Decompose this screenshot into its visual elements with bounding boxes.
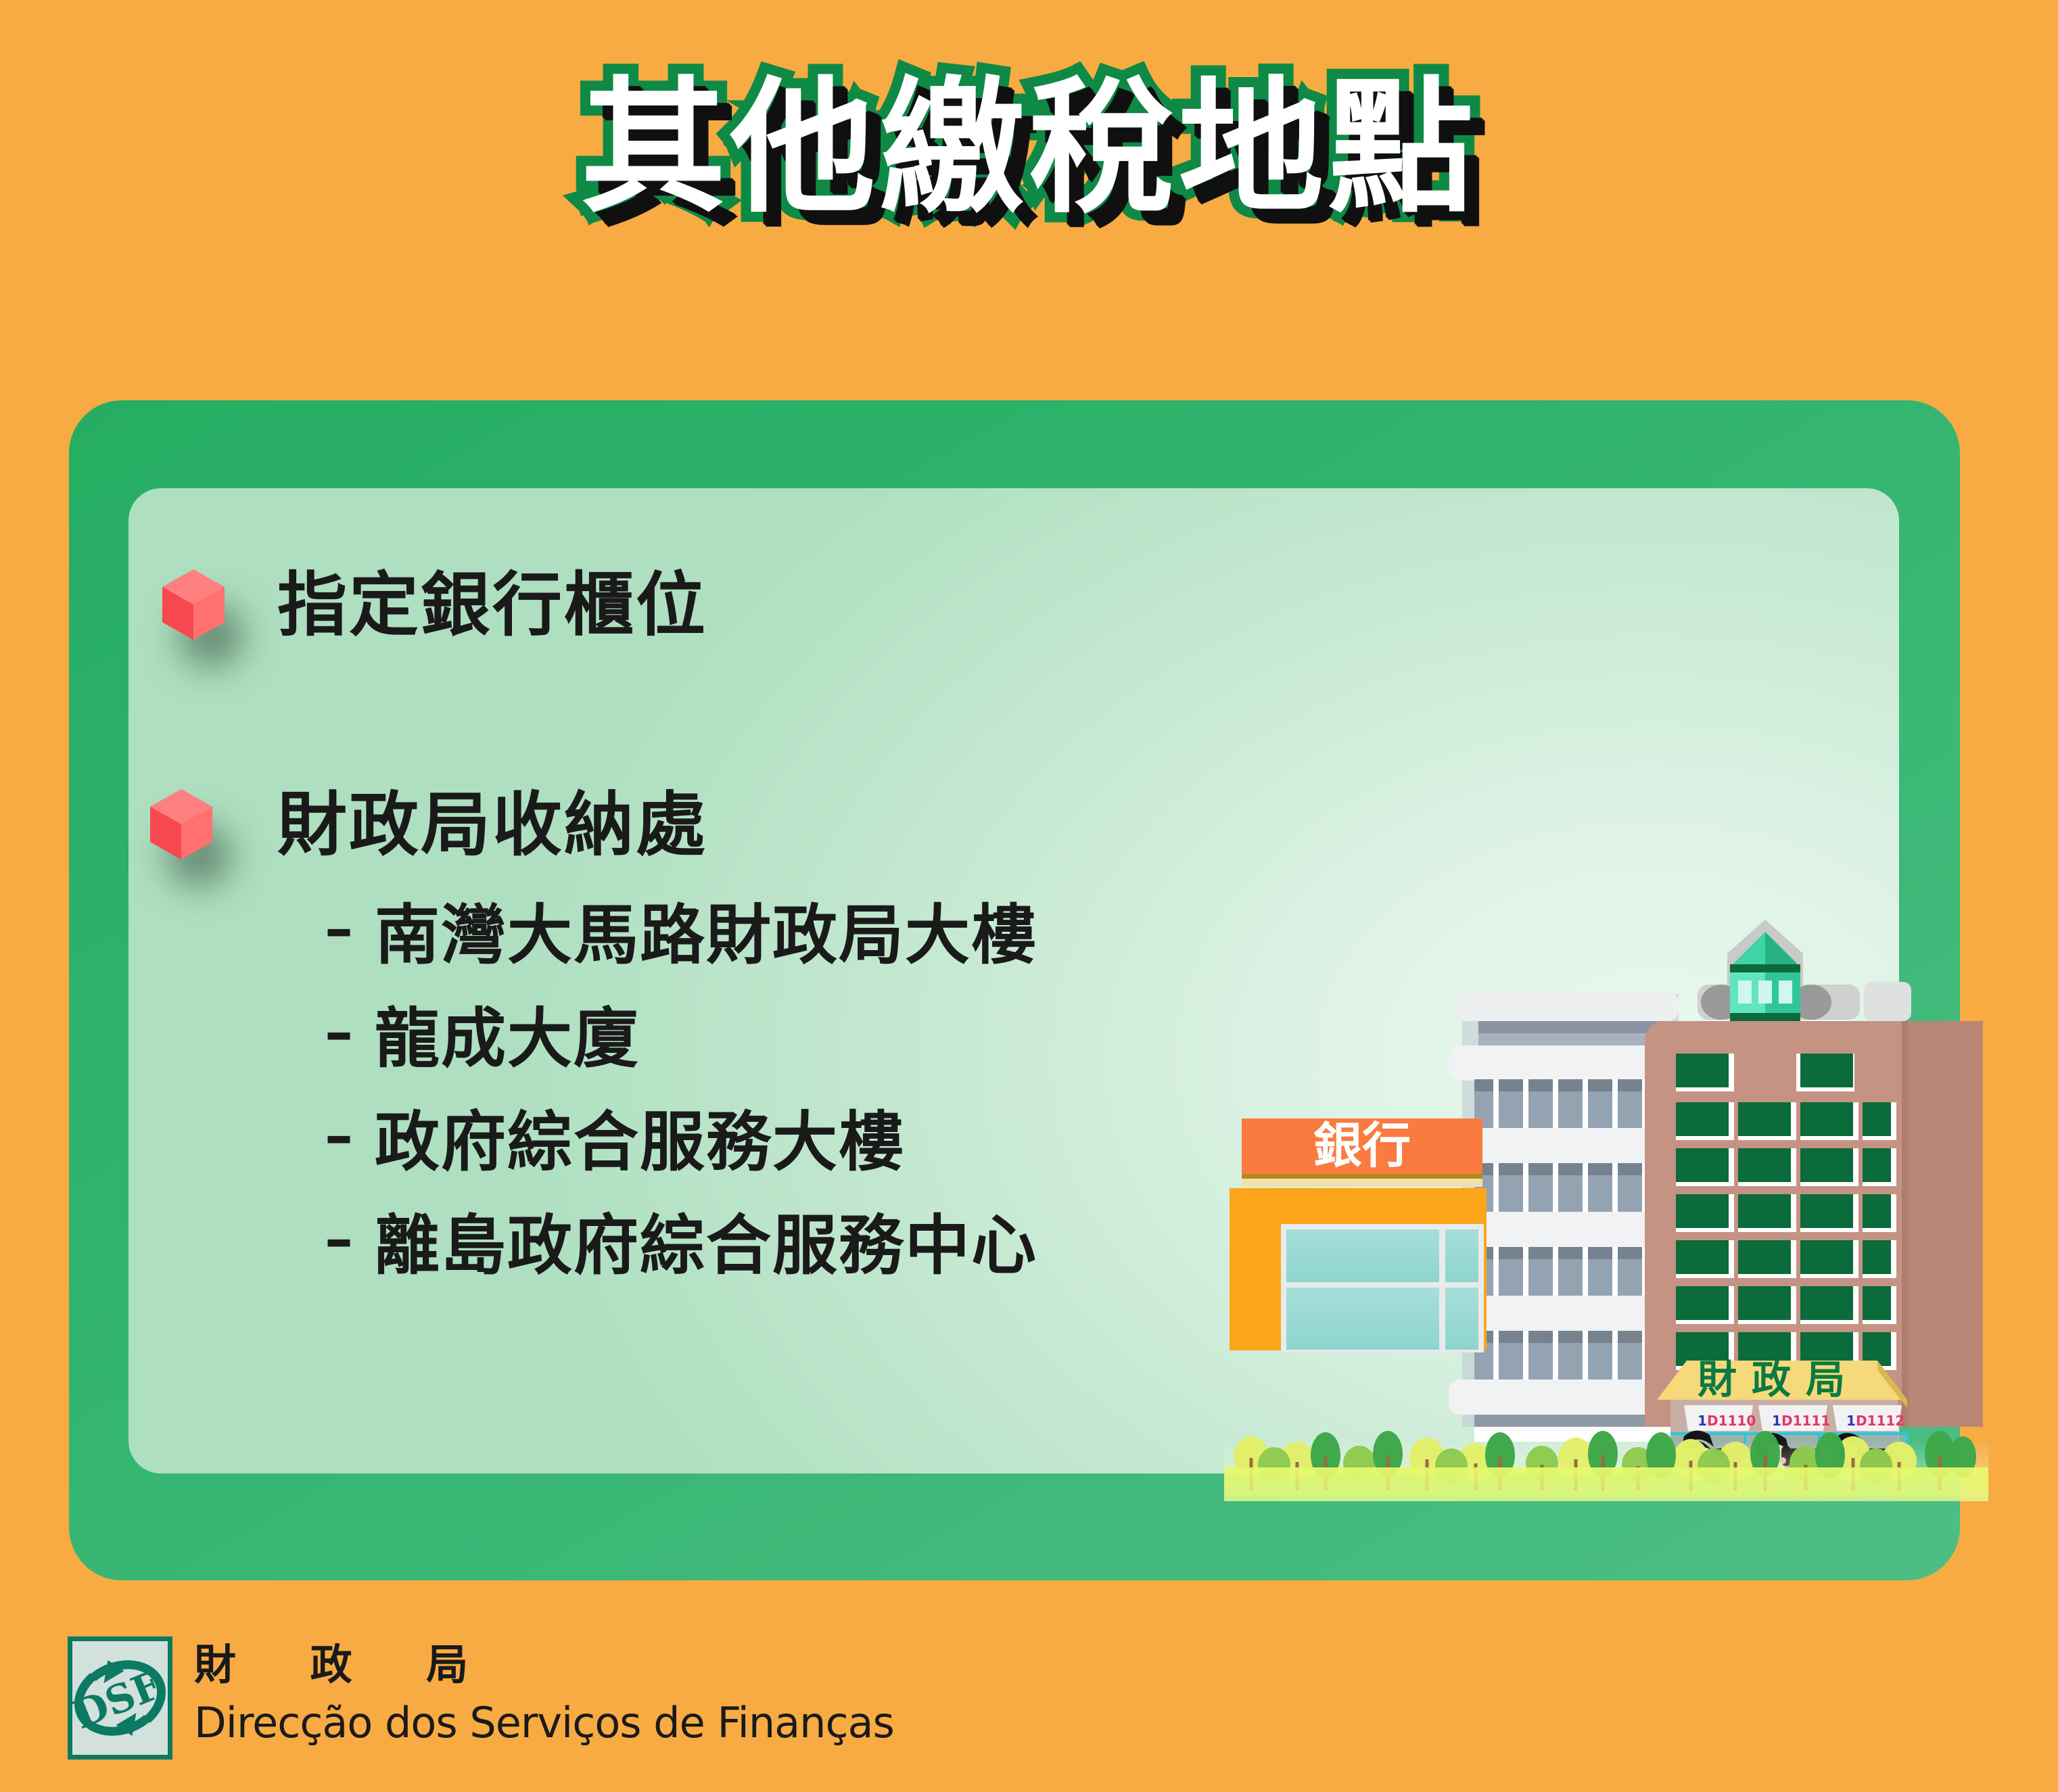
sub-location-list: – 南灣大馬路財政局大樓 – 龍成大廈 – 政府綜合服務大樓 – 離島政府綜合服…: [325, 903, 1339, 1317]
list-item: – 政府綜合服務大樓: [325, 1110, 1339, 1213]
svg-text:D1112: D1112: [1856, 1413, 1904, 1429]
bank-sign-text: 銀行: [1313, 1116, 1411, 1174]
list-item-label: 龍成大廈: [375, 1006, 640, 1071]
bullet-label-2: 財政局收納處: [277, 790, 707, 859]
svg-text:1: 1: [1772, 1413, 1781, 1429]
dash-marker: –: [325, 1004, 375, 1060]
list-item: – 離島政府綜合服務中心: [325, 1213, 1339, 1317]
finance-bureau-tower: 財政局 1 D1110 1 D1111 1 D1112: [1645, 920, 1983, 1481]
hexagon-bullet-icon: [162, 569, 225, 640]
dash-marker: –: [325, 1107, 375, 1164]
svg-text:D1110: D1110: [1707, 1413, 1756, 1429]
dash-marker: –: [325, 900, 375, 957]
org-name-cn: 財 政 局: [194, 1641, 894, 1689]
bullet-item-1: 指定銀行櫃位: [162, 569, 707, 640]
bureau-sign-text: 財政局: [1698, 1357, 1860, 1402]
dsf-logo: DSF: [68, 1636, 172, 1760]
bank-building: 銀行: [1230, 1116, 1487, 1352]
page-title: 其他繳稅地點: [0, 74, 2058, 220]
bullet-label-1: 指定銀行櫃位: [277, 570, 707, 640]
svg-text:1: 1: [1846, 1413, 1856, 1429]
dash-marker: –: [325, 1210, 375, 1267]
list-item-label: 政府綜合服務大樓: [375, 1110, 905, 1175]
footer: DSF 財 政 局 Direcção dos Serviços de Finan…: [68, 1636, 894, 1760]
counter-sign-2: 1 D1111: [1758, 1405, 1830, 1431]
list-item-label: 離島政府綜合服務中心: [375, 1213, 1037, 1278]
list-item: – 龍成大廈: [325, 1006, 1339, 1110]
bullet-item-2: 財政局收納處: [150, 789, 707, 859]
counter-sign-3: 1 D1112: [1833, 1405, 1904, 1431]
org-name-pt: Direcção dos Serviços de Finanças: [194, 1700, 894, 1746]
buildings-illustration: 銀行: [1224, 859, 1988, 1501]
svg-text:1: 1: [1698, 1413, 1707, 1429]
svg-text:D1111: D1111: [1781, 1413, 1830, 1429]
hexagon-bullet-icon: [150, 789, 212, 859]
title-area: 其他繳稅地點: [0, 0, 2058, 318]
counter-sign-1: 1 D1110: [1684, 1405, 1756, 1431]
list-item-label: 南灣大馬路財政局大樓: [375, 903, 1037, 968]
list-item: – 南灣大馬路財政局大樓: [325, 903, 1339, 1006]
